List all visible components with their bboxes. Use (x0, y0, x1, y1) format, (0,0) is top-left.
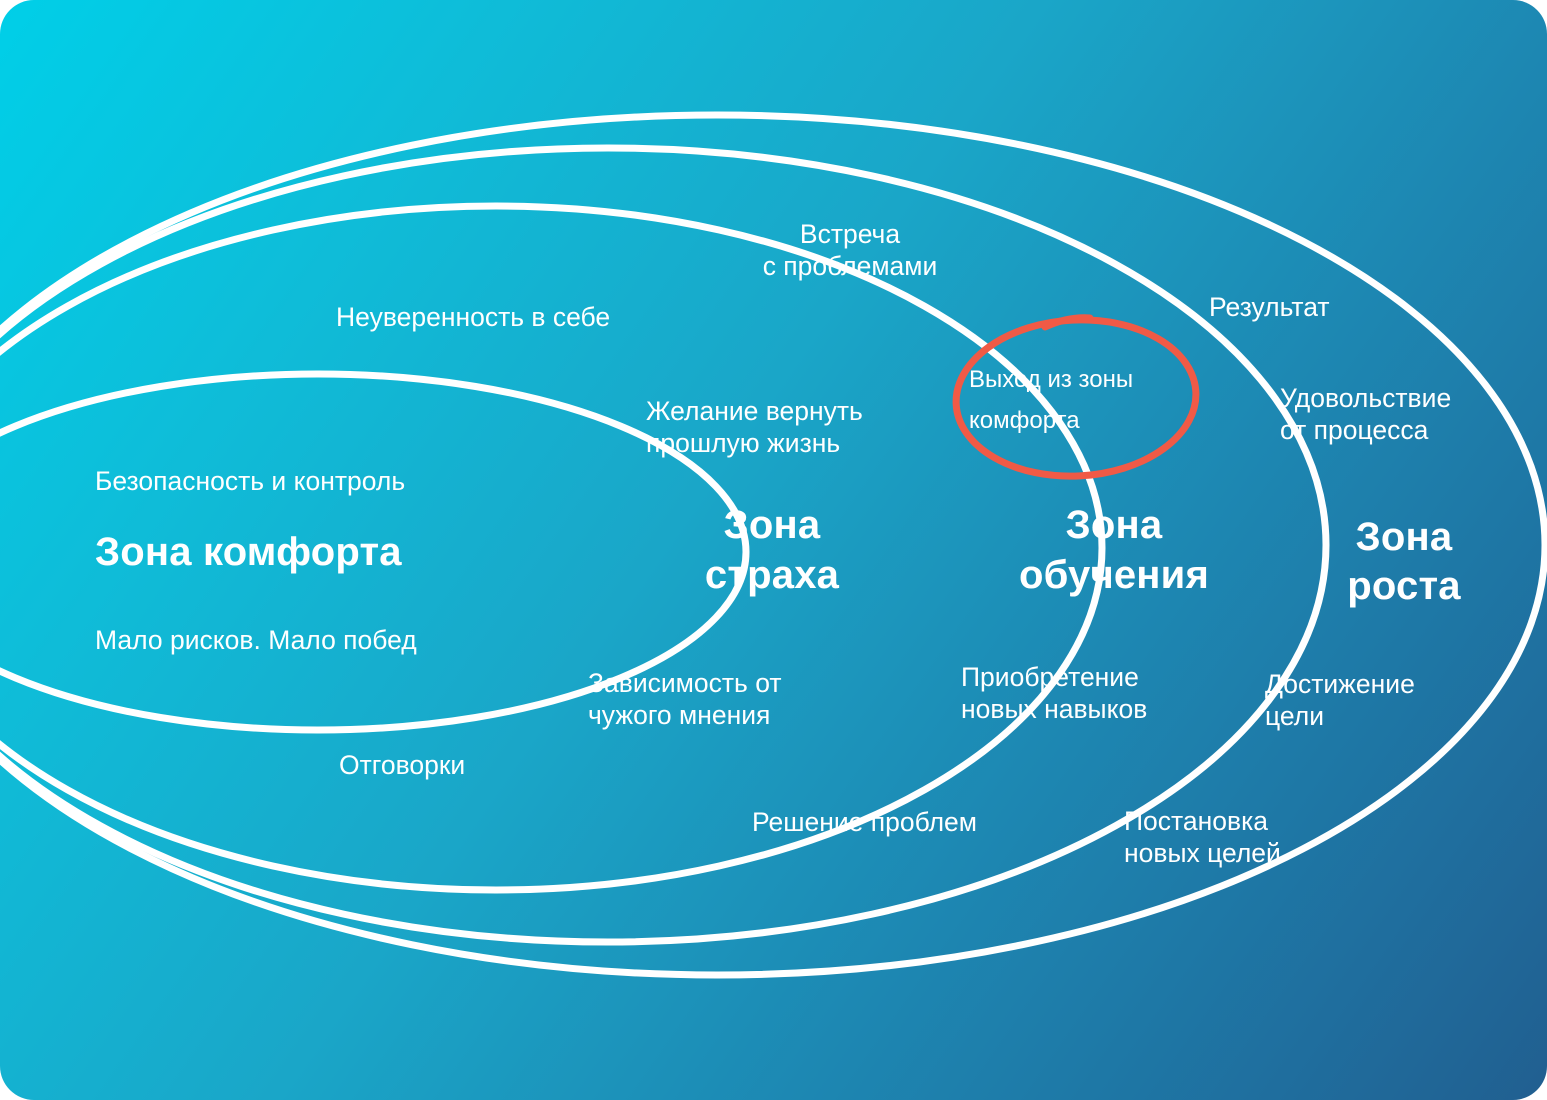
zone-title-fear-line1: Зона (724, 501, 821, 550)
zone-title-fear-line2: страха (705, 551, 839, 600)
zone-title-learning-line1: Зона (1066, 501, 1163, 550)
growth-item-result: Результат (1209, 291, 1330, 323)
growth-item-goal: Достижение цели (1265, 668, 1415, 733)
zone-title-learning-line2: обучения (1019, 551, 1209, 600)
learning-item-new-skills: Приобретение новых навыков (961, 661, 1147, 726)
growth-item-pleasure: Удовольствие от процесса (1280, 382, 1451, 447)
zone-title-growth-line1: Зона (1356, 513, 1453, 562)
annotation-exit-comfort-line2: комфорта (969, 406, 1080, 435)
learning-item-challenges: Встреча с проблемами (763, 218, 938, 283)
comfort-item-risks: Мало рисков. Мало побед (95, 624, 417, 656)
comfort-item-security: Безопасность и контроль (95, 465, 405, 497)
fear-item-excuses: Отговорки (339, 749, 465, 781)
fear-item-insecurity: Неуверенность в себе (336, 301, 610, 333)
zone-title-comfort: Зона комфорта (95, 528, 402, 577)
annotation-exit-comfort-line1: Выход из зоны (969, 365, 1133, 394)
fear-item-return-past: Желание вернуть прошлую жизнь (646, 395, 863, 460)
fear-item-dependence: Зависимость от чужого мнения (588, 667, 781, 732)
zone-title-growth-line2: роста (1347, 562, 1460, 611)
highlight-annotation-circle (952, 314, 1200, 482)
growth-item-new-goals: Постановка новых целей (1124, 805, 1281, 870)
diagram-canvas: Безопасность и контроль Зона комфорта Ма… (0, 0, 1547, 1100)
learning-item-solving: Решение проблем (752, 806, 977, 838)
